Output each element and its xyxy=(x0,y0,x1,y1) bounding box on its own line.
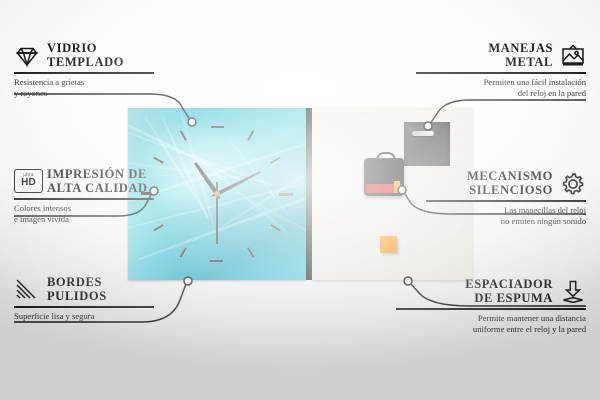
feature-impresion-alta-calidad: ultra HD IMPRESIÓN DE ALTA CALIDAD Color… xyxy=(14,168,154,225)
ultra-hd-icon: ultra HD xyxy=(14,169,40,195)
arrow-down-foam-icon xyxy=(560,279,586,305)
clock-face xyxy=(128,108,306,280)
metal-hanger-plate xyxy=(404,122,450,166)
divider xyxy=(396,308,586,310)
feature-description: Permiten una fácil instalación del reloj… xyxy=(416,77,586,100)
feature-description: Las manecillas del reloj no emiten ningú… xyxy=(426,205,586,228)
mechanism-label xyxy=(366,184,402,193)
divider xyxy=(416,72,586,74)
clock-center-cap xyxy=(214,191,220,197)
clock-mechanism xyxy=(364,158,404,196)
feature-espaciador-espuma: ESPACIADOR DE ESPUMA Permite mantener un… xyxy=(396,278,586,335)
feature-title: IMPRESIÓN DE ALTA CALIDAD xyxy=(47,168,148,195)
diamond-icon xyxy=(14,43,40,69)
mechanism-hook xyxy=(376,152,396,163)
divider xyxy=(14,72,154,74)
divider xyxy=(14,198,154,200)
feature-title: VIDRIO TEMPLADO xyxy=(47,42,124,69)
feature-bordes-pulidos: BORDES PULIDOS Superficie lisa y segura xyxy=(14,276,154,322)
feature-mecanismo-silencioso: MECANISMO SILENCIOSO Las manecillas del … xyxy=(426,170,586,227)
divider xyxy=(426,200,586,202)
feature-manejas-metal: MANEJAS METAL Permiten una fácil instala… xyxy=(416,42,586,99)
feature-description: Permite mantener una distancia uniforme … xyxy=(396,313,586,336)
picture-frame-hook-icon xyxy=(560,43,586,69)
feature-description: Superficie lisa y segura xyxy=(14,311,154,322)
clock-front-panel xyxy=(128,108,306,280)
feature-title: ESPACIADOR DE ESPUMA xyxy=(465,278,553,305)
feature-description: Colores intensos e imagen vívida xyxy=(14,203,154,226)
gear-icon xyxy=(560,171,586,197)
foam-spacer xyxy=(380,236,397,253)
feature-title: MANEJAS METAL xyxy=(488,42,553,69)
diagonal-lines-icon xyxy=(14,277,40,303)
feature-title: BORDES PULIDOS xyxy=(47,276,107,303)
infographic-canvas: VIDRIO TEMPLADO Resistencia a grietas y … xyxy=(0,0,600,400)
divider xyxy=(14,306,154,308)
feature-description: Resistencia a grietas y rayones xyxy=(14,77,154,100)
feature-title: MECANISMO SILENCIOSO xyxy=(467,170,553,197)
feature-vidrio-templado: VIDRIO TEMPLADO Resistencia a grietas y … xyxy=(14,42,154,99)
product-image xyxy=(128,108,472,280)
